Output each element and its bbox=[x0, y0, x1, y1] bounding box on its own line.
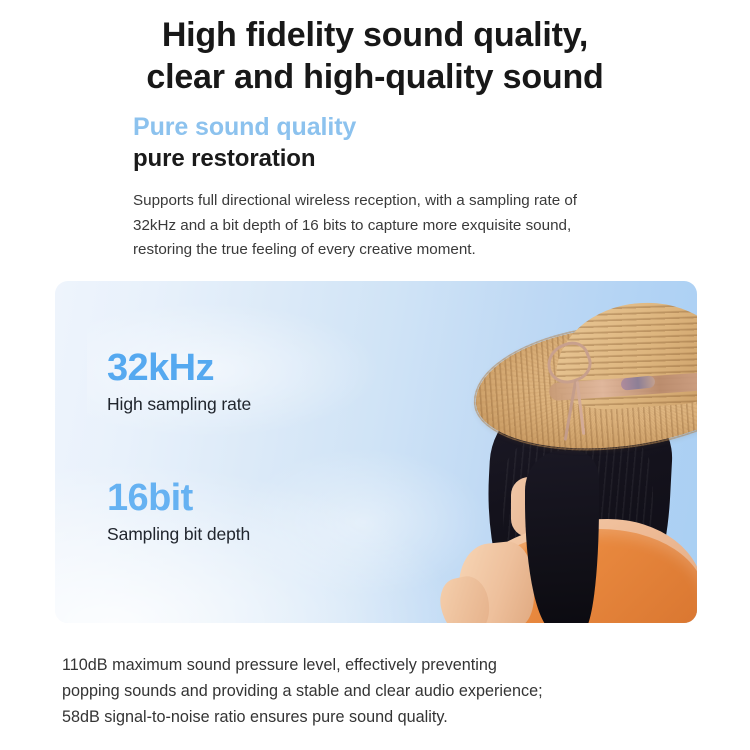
stat-sampling-rate-value: 32kHz bbox=[107, 347, 251, 389]
footer-line-3: 58dB signal-to-noise ratio ensures pure … bbox=[62, 704, 702, 730]
stat-bit-depth: 16bit Sampling bit depth bbox=[107, 477, 250, 546]
person-hair-front-veil bbox=[525, 451, 599, 623]
subheading-dark: pure restoration bbox=[133, 144, 750, 174]
intro-line-1: Supports full directional wireless recep… bbox=[133, 189, 585, 214]
footer-line-1: 110dB maximum sound pressure level, effe… bbox=[62, 652, 702, 678]
photo-scene bbox=[55, 281, 697, 623]
subheading-accent: Pure sound quality bbox=[133, 112, 750, 143]
product-feature-page: High fidelity sound quality, clear and h… bbox=[0, 0, 750, 750]
stat-bit-depth-value: 16bit bbox=[107, 477, 250, 519]
page-title: High fidelity sound quality, clear and h… bbox=[0, 0, 750, 98]
footer-line-2: popping sounds and providing a stable an… bbox=[62, 678, 702, 704]
stat-sampling-rate-label: High sampling rate bbox=[107, 392, 251, 416]
intro-line-3: restoring the true feeling of every crea… bbox=[133, 238, 585, 263]
page-title-line-1: High fidelity sound quality, bbox=[0, 14, 750, 56]
intro-line-2: 32kHz and a bit depth of 16 bits to capt… bbox=[133, 214, 585, 239]
stat-bit-depth-label: Sampling bit depth bbox=[107, 522, 250, 546]
product-photo-card: 32kHz High sampling rate 16bit Sampling … bbox=[55, 281, 697, 623]
page-title-line-2: clear and high-quality sound bbox=[0, 56, 750, 98]
subheading-block: Pure sound quality pure restoration bbox=[0, 112, 750, 174]
footer-paragraph: 110dB maximum sound pressure level, effe… bbox=[62, 652, 702, 730]
intro-paragraph: Supports full directional wireless recep… bbox=[0, 189, 585, 263]
stat-sampling-rate: 32kHz High sampling rate bbox=[107, 347, 251, 416]
